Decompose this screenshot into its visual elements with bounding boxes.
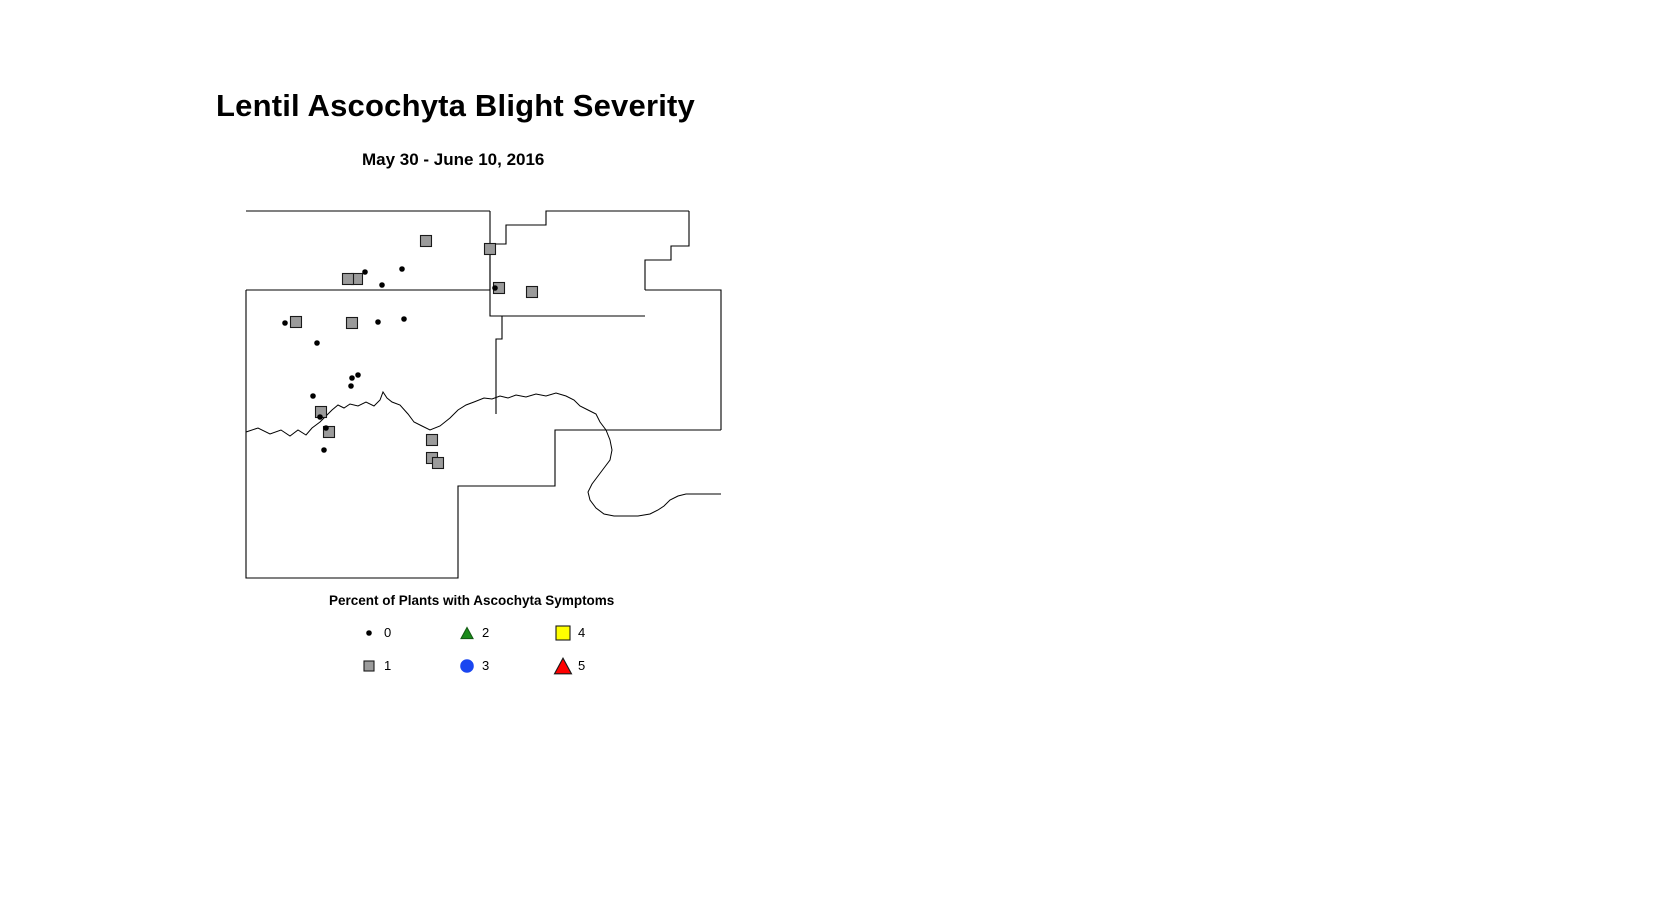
county-border-segment: [645, 211, 689, 290]
legend-label-1: 1: [384, 658, 391, 673]
green-triangle-icon: [456, 618, 478, 648]
county-border-segment: [246, 290, 721, 578]
gray-square: [364, 661, 374, 671]
legend: Percent of Plants with Ascochyta Symptom…: [240, 590, 740, 690]
observation-marker-severity-1: [427, 435, 438, 446]
observation-marker-severity-0: [380, 283, 385, 288]
observation-marker-severity-0: [324, 426, 329, 431]
legend-label-3: 3: [482, 658, 489, 673]
observation-marker-severity-1: [485, 244, 496, 255]
page-title: Lentil Ascochyta Blight Severity: [216, 88, 695, 124]
observation-marker-severity-1: [291, 317, 302, 328]
blue-circle-icon: [456, 651, 478, 681]
observation-marker-severity-0: [376, 320, 381, 325]
observation-marker-severity-0: [350, 376, 355, 381]
county-border-segment: [645, 290, 721, 430]
legend-label-5: 5: [578, 658, 585, 673]
observation-marker-severity-0: [349, 384, 354, 389]
observation-marker-severity-1: [347, 318, 358, 329]
map-panel: [240, 200, 740, 590]
figure-canvas: Lentil Ascochyta Blight Severity May 30 …: [0, 0, 1673, 900]
legend-label-4: 4: [578, 625, 585, 640]
legend-label-2: 2: [482, 625, 489, 640]
legend-label-0: 0: [384, 625, 391, 640]
county-border-segment: [496, 316, 502, 414]
green-triangle: [461, 627, 473, 638]
observation-marker-severity-0: [318, 415, 323, 420]
observation-marker-severity-1: [527, 287, 538, 298]
observation-marker-severity-0: [400, 267, 405, 272]
yellow-square: [556, 626, 570, 640]
county-border-segment: [490, 211, 689, 290]
small-black-dot: [367, 631, 372, 636]
page-subtitle: May 30 - June 10, 2016: [362, 150, 544, 170]
observation-marker-severity-1: [433, 458, 444, 469]
observation-marker-severity-0: [283, 321, 288, 326]
yellow-square-icon: [552, 618, 574, 648]
observation-marker-severity-0: [315, 341, 320, 346]
observation-marker-severity-1: [343, 274, 354, 285]
observation-markers: [283, 236, 538, 469]
observation-marker-severity-0: [322, 448, 327, 453]
red-triangle: [555, 658, 572, 674]
observation-marker-severity-0: [356, 373, 361, 378]
county-border-segment: [490, 290, 645, 316]
observation-marker-severity-0: [402, 317, 407, 322]
small-black-dot-icon: [358, 618, 380, 648]
county-boundaries: [246, 211, 721, 578]
blue-circle: [461, 660, 474, 673]
observation-marker-severity-1: [421, 236, 432, 247]
gray-square-icon: [358, 651, 380, 681]
legend-title: Percent of Plants with Ascochyta Symptom…: [329, 593, 614, 608]
observation-marker-severity-0: [363, 270, 368, 275]
observation-marker-severity-0: [311, 394, 316, 399]
red-triangle-icon: [552, 651, 574, 681]
observation-marker-severity-0: [493, 286, 498, 291]
